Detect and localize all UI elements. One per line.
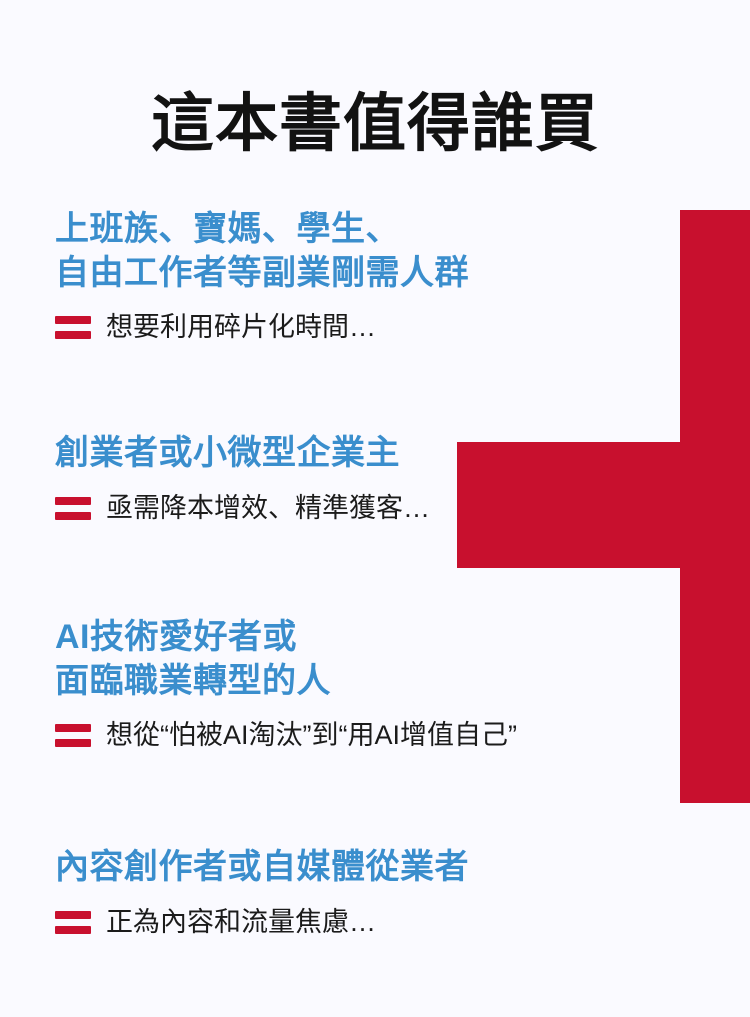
audience-bullet-text: 想從“怕被AI淘汰”到“用AI增值自己”	[106, 719, 517, 751]
poster-canvas: 這本書值得誰買 上班族、寶媽、學生、 自由工作者等副業剛需人群 想要利用碎片化時…	[0, 0, 750, 1017]
audience-bullet-row: 亟需降本增效、精準獲客…	[55, 492, 745, 524]
audience-heading: 上班族、寶媽、學生、 自由工作者等副業剛需人群	[55, 208, 745, 295]
page-title: 這本書值得誰買	[0, 90, 750, 159]
equals-icon	[55, 911, 91, 935]
audience-bullet-text: 想要利用碎片化時間…	[106, 311, 376, 343]
audience-section: 創業者或小微型企業主 亟需降本增效、精準獲客…	[55, 432, 745, 524]
audience-heading: 內容創作者或自媒體從業者	[55, 846, 745, 890]
audience-section: 上班族、寶媽、學生、 自由工作者等副業剛需人群 想要利用碎片化時間…	[55, 208, 745, 343]
audience-bullet-row: 想從“怕被AI淘汰”到“用AI增值自己”	[55, 719, 745, 751]
audience-bullet-text: 亟需降本增效、精準獲客…	[106, 492, 430, 524]
equals-icon	[55, 316, 91, 340]
equals-icon	[55, 724, 91, 748]
equals-icon	[55, 497, 91, 521]
audience-heading: AI技術愛好者或 面臨職業轉型的人	[55, 616, 745, 703]
audience-heading: 創業者或小微型企業主	[55, 432, 745, 476]
audience-section: AI技術愛好者或 面臨職業轉型的人 想從“怕被AI淘汰”到“用AI增值自己”	[55, 616, 745, 751]
audience-bullet-row: 想要利用碎片化時間…	[55, 311, 745, 343]
audience-section: 內容創作者或自媒體從業者 正為內容和流量焦慮…	[55, 846, 745, 938]
audience-bullet-text: 正為內容和流量焦慮…	[106, 906, 376, 938]
audience-bullet-row: 正為內容和流量焦慮…	[55, 906, 745, 938]
